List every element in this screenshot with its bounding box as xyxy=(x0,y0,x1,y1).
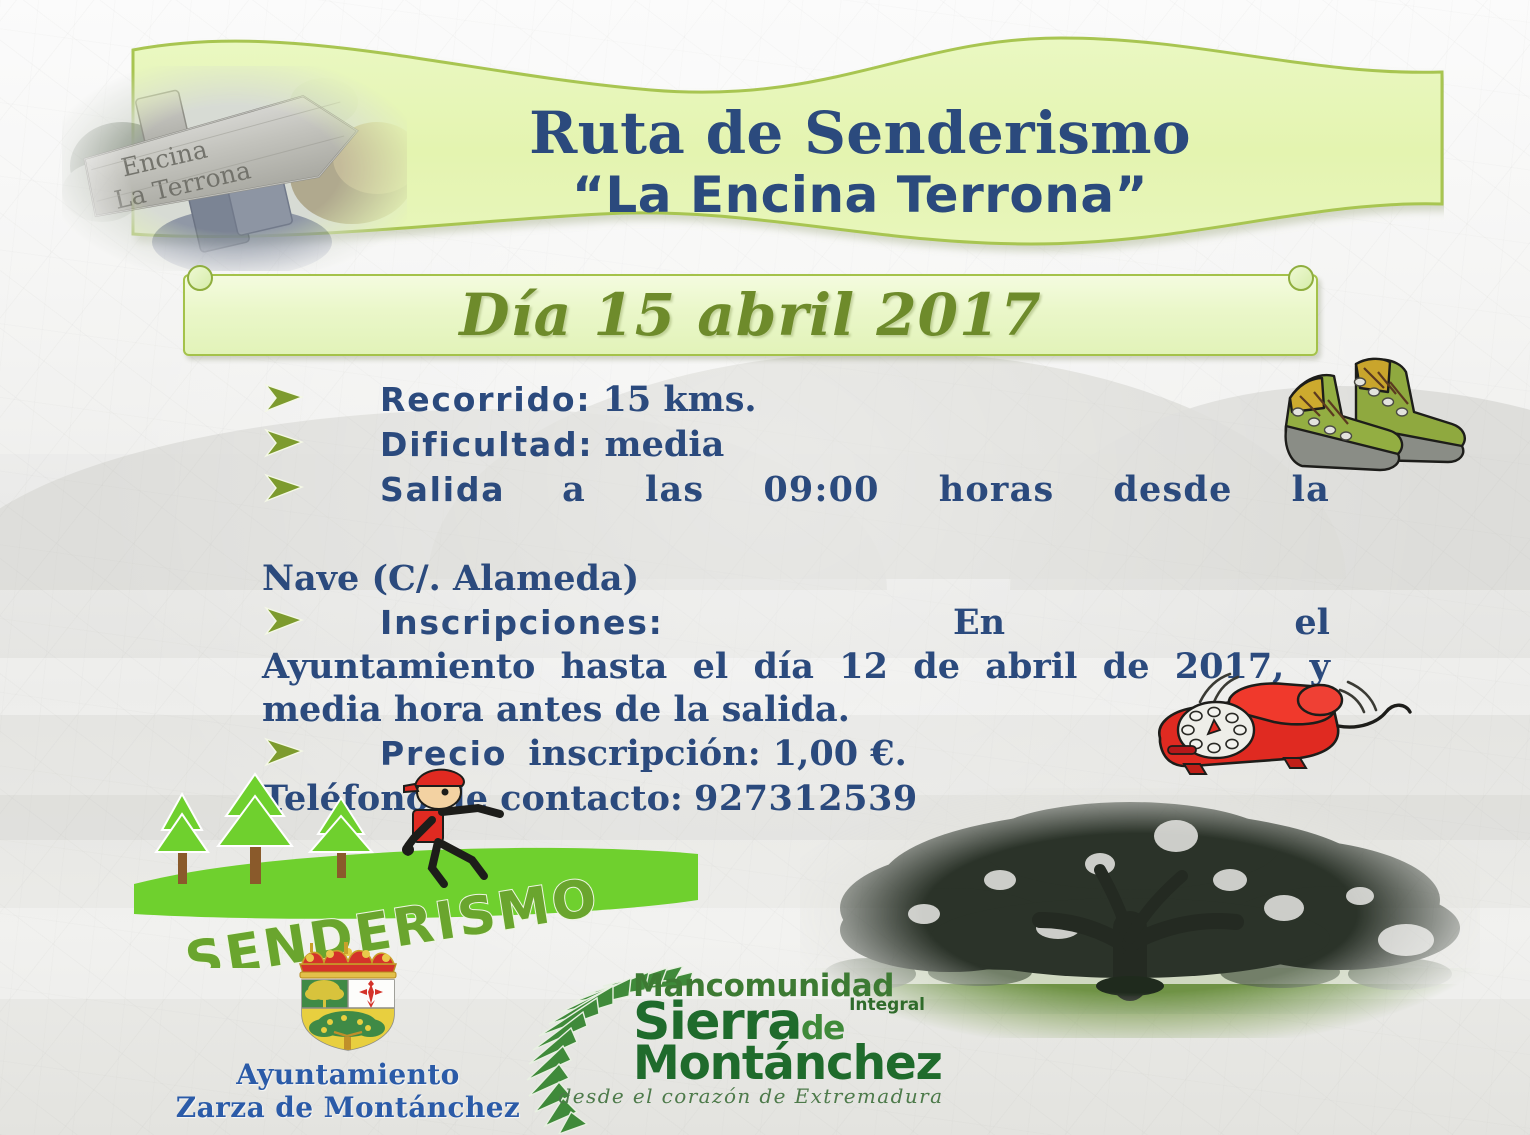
ayuntamiento-block: Ayuntamiento Zarza de Montánchez xyxy=(148,942,548,1124)
detail-label: Dificultad: xyxy=(380,425,593,464)
arrow-bullet-icon xyxy=(262,381,310,415)
ayuntamiento-label: Ayuntamiento Zarza de Montánchez xyxy=(148,1058,548,1124)
detail-value-a: En xyxy=(953,601,1005,645)
page-title: Ruta de Senderismo “La Encina Terrona” xyxy=(330,104,1390,230)
arrow-bullet-icon xyxy=(262,604,310,638)
arrow-bullet-icon xyxy=(262,471,310,505)
municipal-coat-of-arms xyxy=(280,942,416,1054)
hiking-boots-icon xyxy=(1238,342,1488,477)
detail-label: Inscripciones: xyxy=(380,602,664,643)
mancomunidad-logo: Mancomunidad Sierrade Montánchez Integra… xyxy=(525,966,975,1134)
poster-canvas: Encina La Terrona Ruta de Senderismo “La… xyxy=(0,0,1530,1135)
detail-value: a las 09:00 horas desde la xyxy=(562,469,1330,510)
mancomunidad-word-3: Montánchez xyxy=(633,1042,973,1085)
detail-value-continued: Nave (C/. Alameda) xyxy=(262,557,1330,601)
detail-value: 15 kms. xyxy=(603,379,757,420)
detail-row-distance: Recorrido: 15 kms. xyxy=(262,378,1330,423)
arrow-bullet-icon xyxy=(262,426,310,460)
detail-row-departure: Salida a las 09:00 horas desde la Nave (… xyxy=(262,468,1330,601)
mancomunidad-wordmark: Mancomunidad Sierrade Montánchez Integra… xyxy=(633,972,973,1086)
title-line-2: “La Encina Terrona” xyxy=(330,162,1390,230)
detail-label: Recorrido: xyxy=(380,380,591,419)
detail-row-difficulty: Dificultad: media xyxy=(262,423,1330,468)
detail-value-b: el xyxy=(1294,601,1330,645)
mancomunidad-tagline: desde el corazón de Extremadura xyxy=(527,1084,975,1108)
ayuntamiento-line-1: Ayuntamiento xyxy=(148,1058,548,1091)
tree xyxy=(156,794,208,884)
ringing-telephone-icon xyxy=(1134,668,1419,780)
date-banner: Día 15 abril 2017 xyxy=(183,274,1318,356)
title-line-1: Ruta de Senderismo xyxy=(330,104,1390,162)
event-date: Día 15 abril 2017 xyxy=(183,274,1318,356)
ayuntamiento-line-2: Zarza de Montánchez xyxy=(148,1091,548,1124)
arrow-bullet-icon xyxy=(262,735,310,769)
detail-value: media xyxy=(605,424,725,465)
detail-label: Salida xyxy=(380,470,505,509)
mancomunidad-word-integral: Integral xyxy=(849,998,925,1014)
senderismo-graphic: SENDERISMO xyxy=(132,768,702,968)
